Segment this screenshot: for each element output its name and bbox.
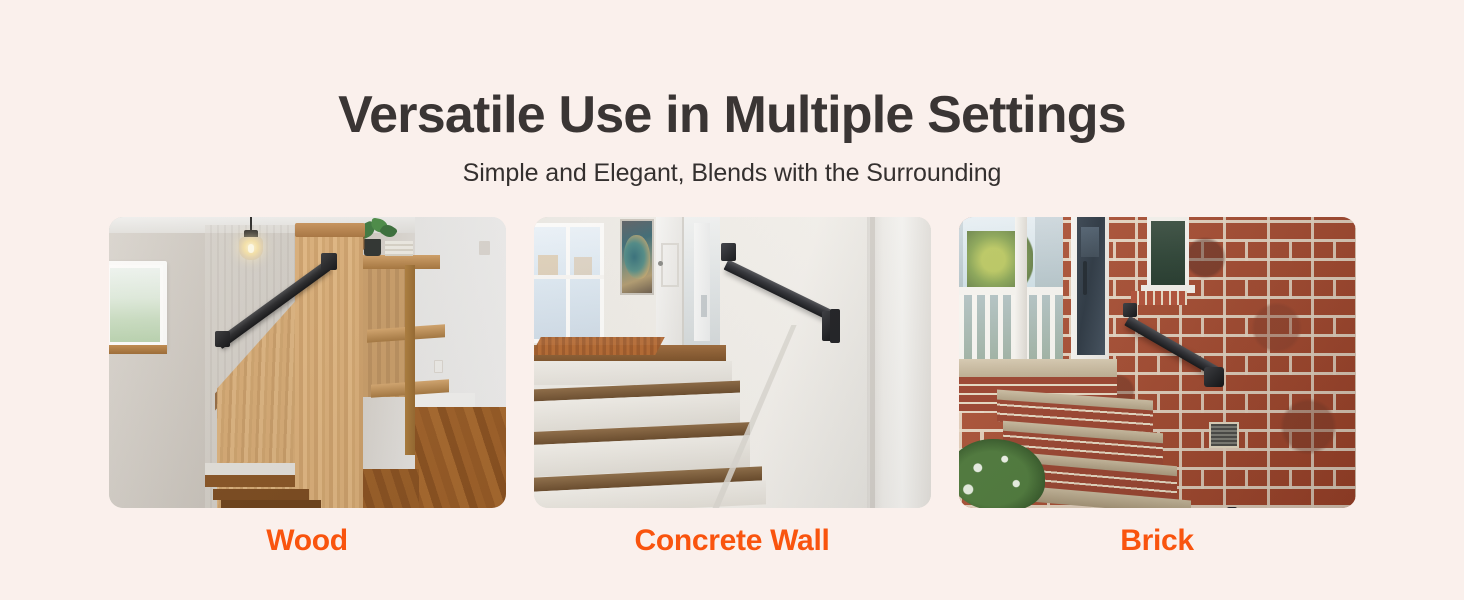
- page-subtitle: Simple and Elegant, Blends with the Surr…: [0, 159, 1464, 188]
- caption-brick: Brick: [1120, 524, 1194, 558]
- handrail-assembly: [217, 247, 347, 377]
- book-stack: [385, 241, 413, 256]
- photo-brick-steps: [959, 217, 1356, 508]
- doorway-shadow: [701, 295, 707, 317]
- stair-tread: [205, 475, 295, 487]
- inner-door: [694, 223, 710, 341]
- shelf-top: [362, 255, 440, 269]
- stair-tread: [221, 500, 321, 508]
- handrail-bracket-lower: [1204, 367, 1224, 387]
- window-icon: [1147, 217, 1189, 289]
- photo-concrete-wall-staircase: [534, 217, 931, 508]
- right-room-wall: [415, 217, 506, 407]
- photo-wood-staircase: [109, 217, 506, 508]
- caption-wood: Wood: [266, 524, 348, 558]
- window-mullion: [534, 275, 604, 279]
- door-knob-icon: [658, 261, 663, 266]
- window-glass: [110, 268, 160, 342]
- handrail-bar: [215, 261, 330, 349]
- window-mullion: [566, 223, 570, 343]
- handrail-bracket-upper: [721, 243, 736, 261]
- wall-outlet-icon: [434, 360, 443, 373]
- wall-corner-edge: [870, 217, 875, 508]
- shelf-side-panel: [405, 265, 415, 455]
- handrail-mounting-plate: [830, 309, 840, 343]
- window-view-building: [538, 255, 558, 277]
- stair-tread: [213, 489, 309, 500]
- window-sill: [109, 345, 167, 354]
- porch-railing: [959, 289, 1063, 367]
- setting-card-brick: Brick: [959, 217, 1356, 558]
- door-handle-icon: [1083, 261, 1087, 295]
- entry-rug: [534, 337, 665, 355]
- porch-post: [1015, 217, 1027, 369]
- stair-riser: [205, 463, 295, 475]
- caption-concrete-wall: Concrete Wall: [634, 524, 829, 558]
- door-glass-panel: [1081, 227, 1099, 257]
- setting-card-wood: Wood: [109, 217, 506, 558]
- handrail-bracket-upper: [321, 253, 337, 270]
- soldier-course-brick: [1131, 291, 1187, 305]
- porch-railing-top: [959, 287, 1063, 295]
- plant-pot: [364, 239, 381, 256]
- baseboard: [415, 393, 475, 407]
- window-frame-icon: [109, 261, 167, 349]
- settings-card-row: Wood: [0, 217, 1464, 558]
- door-panel: [661, 243, 679, 287]
- foundation-vent-icon: [1209, 422, 1239, 448]
- ground-anchor-bolt: [1227, 507, 1237, 508]
- page-title: Versatile Use in Multiple Settings: [0, 88, 1464, 143]
- setting-card-concrete-wall: Concrete Wall: [534, 217, 931, 558]
- handrail-bracket-upper: [1123, 303, 1137, 317]
- newel-cap: [295, 223, 365, 237]
- handrail-bracket-lower: [215, 331, 230, 347]
- promo-banner: Versatile Use in Multiple Settings Simpl…: [0, 0, 1464, 600]
- right-wall-panel: [867, 217, 931, 508]
- hardwood-floor: [415, 407, 506, 508]
- window-view-building: [574, 257, 592, 277]
- header-block: Versatile Use in Multiple Settings Simpl…: [0, 0, 1464, 188]
- light-switch-icon: [479, 241, 490, 255]
